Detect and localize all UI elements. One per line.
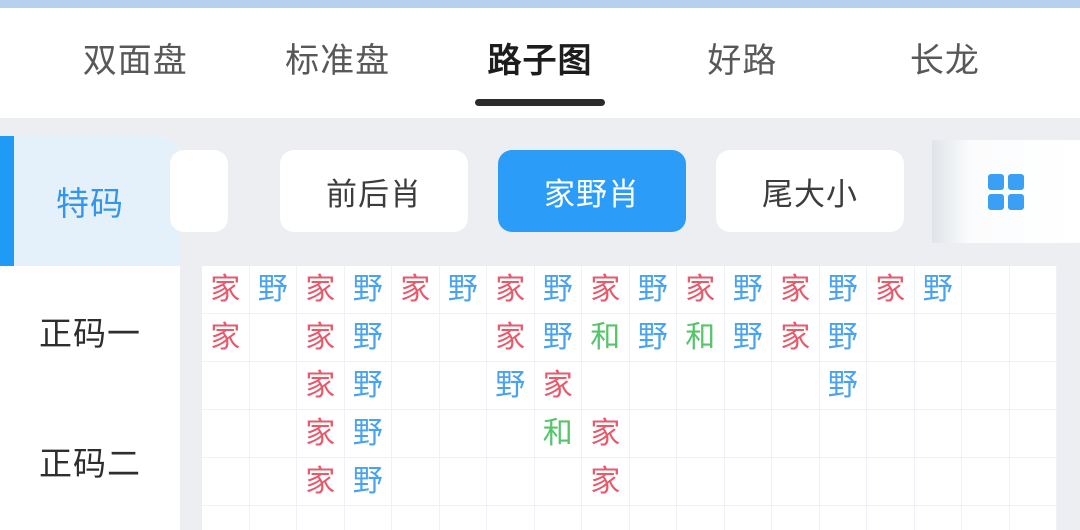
sidebar-item-zhengmayi[interactable]: 正码一	[0, 266, 180, 396]
roadmap-cell-empty	[202, 458, 250, 506]
roadmap-cell-empty	[915, 458, 963, 506]
roadmap-cell-empty	[487, 458, 535, 506]
roadmap-cell-empty	[250, 314, 298, 362]
roadmap-cell-filled: 野	[630, 314, 678, 362]
roadmap-cell-filled: 家	[297, 266, 345, 314]
roadmap-cell-empty	[1010, 458, 1058, 506]
roadmap-cell-empty	[440, 410, 488, 458]
roadmap-cell-filled: 野	[345, 458, 393, 506]
roadmap-cell-empty	[725, 410, 773, 458]
roadmap-cell-empty	[772, 506, 820, 530]
roadmap-cell-empty	[440, 314, 488, 362]
tab-biaozhunpan[interactable]: 标准盘	[236, 8, 438, 118]
roadmap-cell-empty	[915, 314, 963, 362]
tab-luzitu[interactable]: 路子图	[439, 8, 641, 118]
roadmap-cell-empty	[392, 314, 440, 362]
roadmap-cell-empty	[392, 506, 440, 530]
tab-label: 双面盘	[83, 44, 188, 82]
top-tab-bar: 双面盘 标准盘 路子图 好路 长龙	[0, 8, 1080, 118]
roadmap-cell-empty	[677, 506, 725, 530]
roadmap-cell-empty	[630, 506, 678, 530]
roadmap-cell-filled: 家	[772, 266, 820, 314]
roadmap-cell-empty	[820, 410, 868, 458]
roadmap-row: 家家野家野和野和野家野	[202, 314, 1057, 362]
roadmap-cell-filled: 野	[345, 266, 393, 314]
roadmap-cell-empty	[630, 362, 678, 410]
tab-label: 好路	[707, 44, 777, 82]
tab-label: 长龙	[910, 44, 980, 82]
filter-chip-label: 家野肖	[544, 169, 640, 214]
roadmap-cell-empty	[677, 410, 725, 458]
roadmap-row: 家野和家	[202, 410, 1057, 458]
tab-label: 路子图	[488, 44, 593, 82]
roadmap-cell-empty	[915, 506, 963, 530]
roadmap-cell-empty	[772, 458, 820, 506]
roadmap-cell-filled: 野	[440, 266, 488, 314]
roadmap-cell-filled: 和	[535, 410, 583, 458]
roadmap-cell-empty	[962, 362, 1010, 410]
grid-2x2-icon	[988, 174, 1024, 210]
roadmap-cell-empty	[345, 506, 393, 530]
roadmap-cell-filled: 和	[677, 314, 725, 362]
tab-shuangmianpan[interactable]: 双面盘	[34, 8, 236, 118]
roadmap-cell-empty	[772, 362, 820, 410]
roadmap-cell-empty	[915, 362, 963, 410]
roadmap-cell-empty	[582, 362, 630, 410]
roadmap-row: 家野家	[202, 458, 1057, 506]
roadmap-cell-filled: 和	[582, 314, 630, 362]
roadmap-cell-empty	[915, 410, 963, 458]
roadmap-grid[interactable]: 家野家野家野家野家野家野家野家野家家野家野和野和野家野家野野家野家野和家家野家	[202, 266, 1057, 530]
roadmap-cell-empty	[202, 362, 250, 410]
roadmap-cell-empty	[820, 458, 868, 506]
roadmap-cell-empty	[677, 458, 725, 506]
status-strip	[0, 0, 1080, 8]
roadmap-cell-filled: 家	[535, 362, 583, 410]
sidebar-active-accent	[0, 136, 14, 266]
filter-chip-label: 尾大小	[762, 169, 858, 214]
roadmap-cell-filled: 家	[677, 266, 725, 314]
roadmap-cell-filled: 家	[392, 266, 440, 314]
roadmap-cell-empty	[250, 362, 298, 410]
roadmap-cell-empty	[1010, 362, 1058, 410]
roadmap-cell-filled: 家	[297, 410, 345, 458]
roadmap-cell-filled: 野	[915, 266, 963, 314]
roadmap-cell-empty	[630, 458, 678, 506]
roadmap-cell-empty	[867, 410, 915, 458]
roadmap-cell-empty	[535, 506, 583, 530]
roadmap-cell-empty	[1010, 266, 1058, 314]
roadmap-cell-filled: 家	[772, 314, 820, 362]
roadmap-cell-filled: 野	[535, 314, 583, 362]
roadmap-cell-filled: 家	[582, 266, 630, 314]
roadmap-cell-empty	[392, 410, 440, 458]
roadmap-cell-filled: 家	[297, 458, 345, 506]
roadmap-cell-empty	[867, 314, 915, 362]
filter-chip-qianhouxiao[interactable]: 前后肖	[280, 150, 468, 232]
tab-label: 标准盘	[285, 44, 390, 82]
roadmap-cell-empty	[582, 506, 630, 530]
roadmap-row: 家野野家野	[202, 362, 1057, 410]
roadmap-cell-filled: 野	[725, 314, 773, 362]
roadmap-cell-filled: 野	[487, 362, 535, 410]
filter-chip-label: 前后肖	[326, 169, 422, 214]
roadmap-cell-filled: 野	[345, 362, 393, 410]
roadmap-cell-empty	[440, 458, 488, 506]
roadmap-cell-empty	[392, 458, 440, 506]
roadmap-cell-empty	[962, 458, 1010, 506]
roadmap-cell-empty	[440, 506, 488, 530]
roadmap-cell-empty	[725, 362, 773, 410]
roadmap-cell-empty	[1010, 506, 1058, 530]
roadmap-cell-empty	[772, 410, 820, 458]
roadmap-cell-empty	[1010, 314, 1058, 362]
roadmap-cell-filled: 家	[487, 314, 535, 362]
roadmap-cell-empty	[725, 506, 773, 530]
roadmap-cell-empty	[202, 506, 250, 530]
roadmap-cell-filled: 野	[250, 266, 298, 314]
roadmap-cell-filled: 野	[630, 266, 678, 314]
roadmap-cell-empty	[630, 410, 678, 458]
roadmap-cell-filled: 家	[297, 314, 345, 362]
roadmap-row: 家野家野家野家野家野家野家野家野	[202, 266, 1057, 314]
tab-haolu[interactable]: 好路	[641, 8, 843, 118]
roadmap-cell-empty	[440, 362, 488, 410]
roadmap-cell-empty	[487, 506, 535, 530]
roadmap-cell-filled: 野	[535, 266, 583, 314]
roadmap-cell-empty	[867, 506, 915, 530]
roadmap-cell-empty	[250, 458, 298, 506]
roadmap-cell-filled: 野	[820, 314, 868, 362]
roadmap-cell-empty	[1010, 410, 1058, 458]
body-area: 特码 正码一 正码二 前后肖 家野肖 尾大小	[0, 118, 1080, 530]
roadmap-cell-filled: 家	[297, 362, 345, 410]
roadmap-cell-empty	[962, 506, 1010, 530]
tab-changlong[interactable]: 长龙	[844, 8, 1046, 118]
roadmap-cell-empty	[535, 458, 583, 506]
roadmap-cell-empty	[962, 266, 1010, 314]
tab-active-underline	[475, 99, 605, 106]
roadmap-cell-empty	[867, 362, 915, 410]
filter-chip-row: 前后肖 家野肖 尾大小	[180, 140, 1080, 250]
grid-view-button[interactable]	[932, 140, 1080, 243]
sidebar-item-label: 正码一	[39, 307, 141, 355]
roadmap-cell-filled: 家	[582, 458, 630, 506]
roadmap-cell-empty	[725, 458, 773, 506]
roadmap-cell-filled: 野	[345, 314, 393, 362]
sidebar-item-label: 正码二	[39, 437, 141, 485]
roadmap-cell-filled: 野	[345, 410, 393, 458]
sidebar: 特码 正码一 正码二	[0, 136, 180, 530]
roadmap-cell-filled: 家	[867, 266, 915, 314]
filter-chip-jiayexiao[interactable]: 家野肖	[498, 150, 686, 232]
roadmap-cell-filled: 野	[820, 362, 868, 410]
roadmap-cell-filled: 家	[202, 266, 250, 314]
sidebar-item-label: 特码	[56, 177, 124, 225]
roadmap-cell-filled: 家	[582, 410, 630, 458]
filter-chip-partial[interactable]	[170, 150, 228, 232]
roadmap-cell-empty	[962, 314, 1010, 362]
roadmap-cell-filled: 家	[487, 266, 535, 314]
roadmap-cell-empty	[392, 362, 440, 410]
roadmap-cell-empty	[677, 362, 725, 410]
app-root: 双面盘 标准盘 路子图 好路 长龙 特码	[0, 0, 1080, 530]
roadmap-cell-filled: 家	[202, 314, 250, 362]
sidebar-item-teima[interactable]: 特码	[0, 136, 180, 266]
roadmap-row	[202, 506, 1057, 530]
roadmap-cell-empty	[820, 506, 868, 530]
roadmap-cell-empty	[250, 506, 298, 530]
roadmap-cell-empty	[867, 458, 915, 506]
roadmap-cell-empty	[202, 410, 250, 458]
roadmap-cell-empty	[487, 410, 535, 458]
roadmap-cell-empty	[962, 410, 1010, 458]
roadmap-cell-empty	[250, 410, 298, 458]
roadmap-cell-filled: 野	[820, 266, 868, 314]
sidebar-item-zhengmaer[interactable]: 正码二	[0, 396, 180, 526]
roadmap-cell-filled: 野	[725, 266, 773, 314]
roadmap-cell-empty	[297, 506, 345, 530]
filter-chip-weidaxiao[interactable]: 尾大小	[716, 150, 904, 232]
